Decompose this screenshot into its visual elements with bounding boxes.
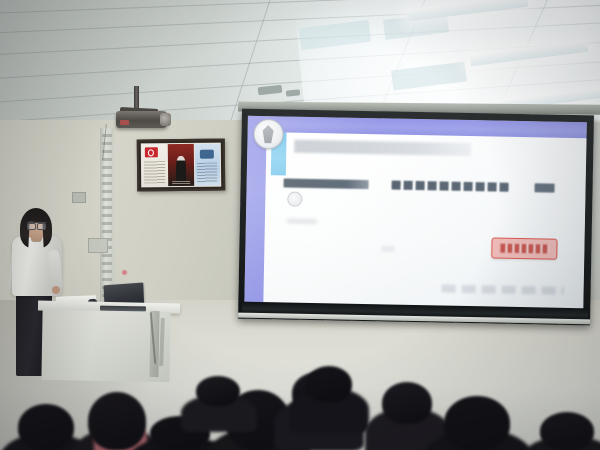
audience-head xyxy=(444,396,510,450)
audience-head xyxy=(540,412,594,450)
audience-head xyxy=(382,382,432,424)
projection-screen xyxy=(238,109,594,326)
projected-slide xyxy=(244,116,587,310)
projector-indicator-icon xyxy=(120,120,129,125)
framed-wall-poster xyxy=(137,139,226,192)
wall-socket-panel[interactable] xyxy=(88,238,108,253)
laser-pointer-dot xyxy=(122,270,127,275)
lecture-hall-photo xyxy=(0,0,600,450)
slide-small-circle-icon xyxy=(287,192,302,207)
audience-head xyxy=(88,392,146,450)
ceiling-vent xyxy=(258,85,283,95)
slide-field-1[interactable] xyxy=(284,178,369,189)
audience-head xyxy=(196,376,240,406)
audience-head xyxy=(18,404,74,450)
turkish-flag-icon xyxy=(145,147,158,158)
eyeglasses-icon xyxy=(27,222,46,228)
audience-head xyxy=(306,366,352,402)
poster-panel-flag xyxy=(142,144,168,186)
ceiling-vent xyxy=(286,89,301,96)
screen-surface xyxy=(244,116,587,310)
slide-field-3[interactable] xyxy=(534,183,555,193)
wall-switch-plate[interactable] xyxy=(72,192,86,203)
poster-panel-emblem xyxy=(194,144,220,186)
slide-faint-text-1 xyxy=(287,218,318,224)
poster-panel-portrait xyxy=(168,144,194,186)
slide-red-button[interactable] xyxy=(491,237,558,260)
slide-faint-text-2 xyxy=(381,246,395,251)
projector-lens-icon xyxy=(160,113,171,126)
presenter-hand xyxy=(52,286,60,294)
